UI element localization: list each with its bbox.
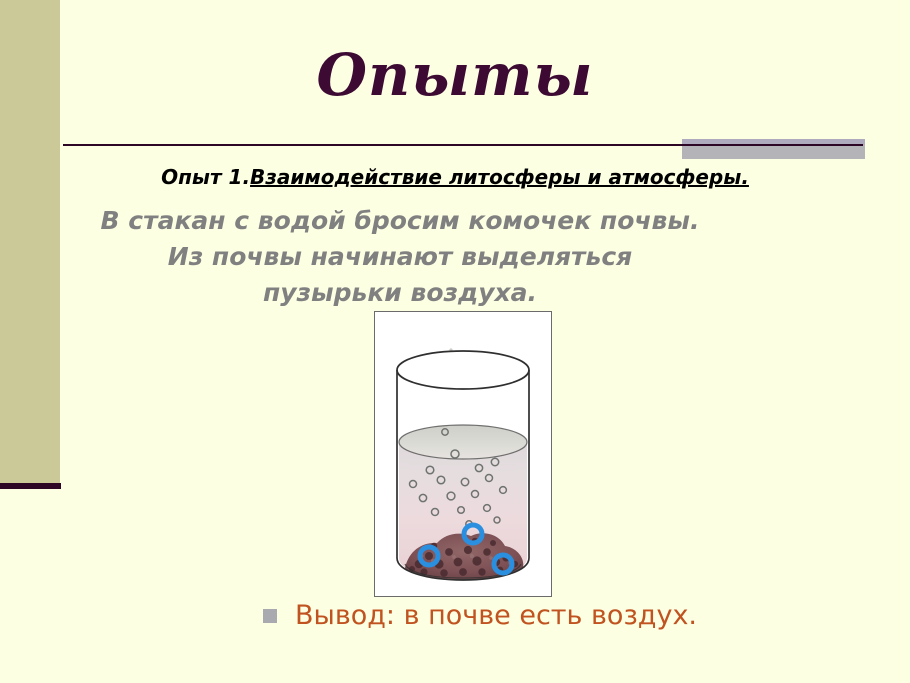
experiment-heading-underlined: Взаимодействие литосферы и атмосферы.	[250, 165, 749, 189]
experiment-heading: Опыт 1.Взаимодействие литосферы и атмосф…	[60, 165, 850, 189]
slide-canvas: Опыты Опыт 1.Взаимодействие литосферы и …	[0, 0, 910, 683]
conclusion-line: Вывод: в почве есть воздух.	[160, 601, 800, 631]
glass-illustration-svg	[375, 312, 551, 596]
decorative-side-band-cap	[0, 483, 61, 489]
experiment-body-text: В стакан с водой бросим комочек почвы. И…	[95, 203, 705, 311]
square-bullet-icon	[263, 609, 277, 623]
title-divider-rule	[63, 144, 863, 146]
experiment-heading-prefix: Опыт 1.	[161, 165, 250, 189]
conclusion-text: Вывод: в почве есть воздух.	[295, 601, 697, 631]
page-title: Опыты	[0, 44, 910, 106]
figure-glass-of-water	[374, 311, 552, 597]
